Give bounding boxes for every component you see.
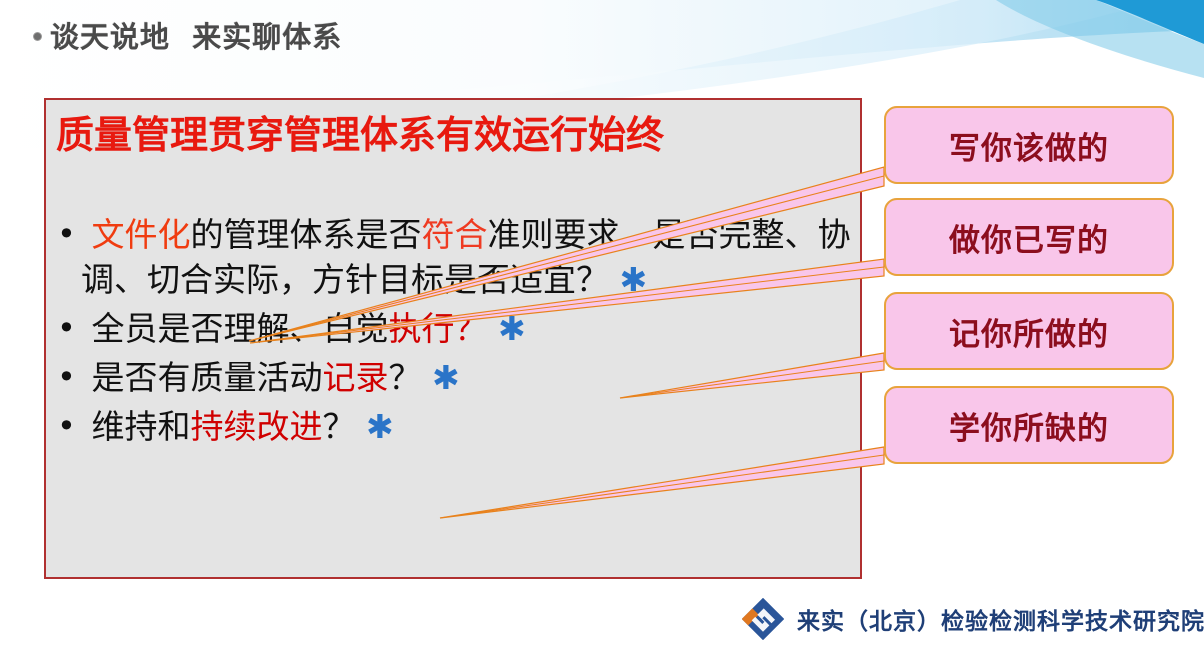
bullet-text-segment: 文件化 bbox=[92, 215, 191, 254]
bullet-row: • 维持和持续改进？ ✱ bbox=[54, 404, 860, 449]
slide-canvas: 谈天说地 来实聊体系 质量管理贯穿管理体系有效运行始终 • 文件化的管理体系是否… bbox=[0, 0, 1204, 657]
content-panel: 质量管理贯穿管理体系有效运行始终 • 文件化的管理体系是否符合准则要求，是否完整… bbox=[44, 98, 862, 579]
footer-branding: 来实（北京）检验检测科学技术研究院 bbox=[742, 598, 1204, 640]
bullet-text-segment: 全员是否理解、自觉 bbox=[81, 309, 389, 348]
bullet-text-segment: 执行？ bbox=[389, 309, 488, 348]
footer-organization-name: 来实（北京）检验检测科学技术研究院 bbox=[797, 602, 1204, 636]
content-heading: 质量管理贯穿管理体系有效运行始终 bbox=[56, 104, 856, 159]
bullet-text: 维持和持续改进？ ✱ bbox=[81, 404, 860, 449]
header-bullet-icon bbox=[34, 33, 41, 40]
bullet-text-segment: ✱ bbox=[620, 260, 648, 299]
callout-label-1: 写你该做的 bbox=[949, 123, 1109, 168]
callout-box-4[interactable]: 学你所缺的 bbox=[884, 386, 1174, 464]
bullet-row: • 是否有质量活动记录？ ✱ bbox=[54, 355, 860, 400]
bullet-text: 全员是否理解、自觉执行？ ✱ bbox=[81, 306, 860, 351]
bullet-text-segment: ✱ bbox=[366, 407, 394, 446]
bullet-text-segment bbox=[81, 215, 92, 254]
bullet-marker-icon: • bbox=[54, 404, 81, 449]
callout-label-4: 学你所缺的 bbox=[949, 403, 1109, 448]
bullet-list: • 文件化的管理体系是否符合准则要求，是否完整、协调、切合实际，方针目标是否适宜… bbox=[54, 212, 860, 453]
bullet-text-segment: 是否有质量活动 bbox=[81, 358, 323, 397]
bullet-text-segment: ？ bbox=[389, 358, 433, 397]
bullet-text-segment: 记录 bbox=[323, 358, 389, 397]
header-title: 谈天说地 来实聊体系 bbox=[50, 14, 342, 56]
callout-box-1[interactable]: 写你该做的 bbox=[884, 106, 1174, 184]
callout-box-2[interactable]: 做你已写的 bbox=[884, 198, 1174, 276]
callout-label-3: 记你所做的 bbox=[949, 309, 1109, 354]
bullet-text-segment: 持续改进 bbox=[191, 407, 323, 446]
bullet-marker-icon: • bbox=[54, 212, 81, 257]
slide-header: 谈天说地 来实聊体系 bbox=[34, 14, 342, 56]
bullet-text-segment bbox=[488, 309, 499, 348]
bullet-marker-icon: • bbox=[54, 306, 81, 351]
callout-label-2: 做你已写的 bbox=[949, 215, 1109, 260]
bullet-text-segment: 符合 bbox=[422, 215, 488, 254]
bullet-text-segment: 的管理体系是否 bbox=[191, 215, 422, 254]
diamond-logo-icon bbox=[742, 598, 784, 640]
bullet-text: 是否有质量活动记录？ ✱ bbox=[81, 355, 860, 400]
bullet-row: • 全员是否理解、自觉执行？ ✱ bbox=[54, 306, 860, 351]
bullet-text-segment: ✱ bbox=[498, 309, 526, 348]
bullet-marker-icon: • bbox=[54, 355, 81, 400]
bullet-text-segment: ？ bbox=[323, 407, 367, 446]
bullet-text-segment: 维持和 bbox=[81, 407, 191, 446]
callout-box-3[interactable]: 记你所做的 bbox=[884, 292, 1174, 370]
bullet-text: 文件化的管理体系是否符合准则要求，是否完整、协调、切合实际，方针目标是否适宜？ … bbox=[81, 212, 860, 302]
bullet-text-segment: ✱ bbox=[432, 358, 460, 397]
bullet-row: • 文件化的管理体系是否符合准则要求，是否完整、协调、切合实际，方针目标是否适宜… bbox=[54, 212, 860, 302]
